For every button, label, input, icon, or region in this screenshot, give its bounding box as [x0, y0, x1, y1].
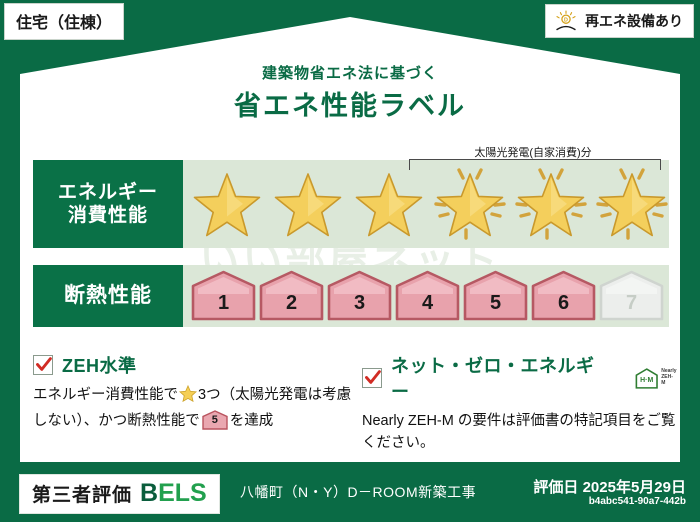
insulation-grade-active: 2: [258, 270, 325, 322]
zeh-checkbox[interactable]: [33, 355, 53, 375]
net-zero-title: ネット・ゼロ・エネルギー: [391, 352, 612, 404]
star-solar: [513, 164, 590, 244]
zeh-criterion-header: ZEH水準: [33, 352, 353, 378]
insulation-label-text: 断熱性能: [64, 283, 152, 309]
insulation-row-label: 断熱性能: [33, 265, 183, 327]
zeh-description: エネルギー消費性能で 3つ（太陽光発電は考慮しない）、かつ断熱性能で 5 を達成: [33, 385, 353, 433]
solar-bracket: [409, 159, 661, 170]
insulation-grade-active: 1: [190, 270, 257, 322]
insulation-grade-active: 3: [326, 270, 393, 322]
inline-grade-badge: 5: [202, 410, 228, 430]
bels-badge: 第三者評価 BELS: [19, 474, 220, 514]
insulation-grade-active: 5: [462, 270, 529, 322]
energy-performance-label: いい部屋ネット 住宅（住棟） D 再エネ設備あり 建築物省エネ法に基づく 省エネ…: [0, 0, 700, 522]
energy-stars-area: 太陽光発電(自家消費)分: [183, 160, 669, 248]
energy-label-line2: 消費性能: [68, 204, 148, 227]
insulation-performance-row: 断熱性能 1234567: [33, 265, 669, 327]
star-solar: [432, 164, 509, 244]
star-filled: [351, 164, 428, 244]
inline-grade-value: 5: [202, 412, 228, 429]
project-name: 八幡町（N・Y）D－ROOM新築工事: [240, 482, 476, 502]
zeh-m-caption: Nearly ZEH-M: [661, 369, 677, 386]
insulation-grade-value: 4: [394, 292, 461, 315]
insulation-grade-list: 1234567: [183, 270, 665, 322]
page-title: 省エネ性能ラベル: [0, 84, 700, 123]
star-filled: [189, 164, 266, 244]
net-zero-description: Nearly ZEH-M の要件は評価書の特記項目をご覧ください。: [362, 411, 677, 455]
sun-icon: D: [554, 10, 578, 32]
label-subtitle: 建築物省エネ法に基づく: [0, 62, 700, 83]
insulation-grade-value: 7: [598, 292, 665, 315]
net-zero-criterion-header: ネット・ゼロ・エネルギー H·M Nearly ZEH-M: [362, 352, 677, 404]
building-type-tab[interactable]: 住宅（住棟）: [4, 3, 124, 40]
zeh-text-a: エネルギー消費性能で: [33, 387, 178, 403]
evaluation-date: 評価日 2025年5月29日: [533, 476, 686, 497]
zeh-text-c: を達成: [230, 413, 274, 429]
check-icon: [35, 356, 53, 374]
svg-text:D: D: [564, 18, 568, 24]
renewable-badge-label: 再エネ設備あり: [585, 11, 683, 31]
insulation-grade-value: 1: [190, 292, 257, 315]
insulation-grade-active: 6: [530, 270, 597, 322]
inline-star-icon: [179, 385, 197, 410]
check-icon: [364, 369, 382, 387]
insulation-grade-value: 2: [258, 292, 325, 315]
insulation-grade-value: 6: [530, 292, 597, 315]
zeh-m-caption-line2: ZEH-M: [661, 375, 677, 387]
zeh-m-logo: H·M Nearly ZEH-M: [627, 366, 677, 391]
net-zero-criterion: ネット・ゼロ・エネルギー H·M Nearly ZEH-M Nearly ZEH…: [362, 352, 677, 455]
bels-letter-b: B: [140, 479, 158, 507]
net-zero-checkbox[interactable]: [362, 368, 382, 388]
zeh-title: ZEH水準: [62, 352, 137, 378]
evaluation-id: b4abc541-90a7-442b: [589, 496, 686, 507]
label-footer: 第三者評価 BELS 八幡町（N・Y）D－ROOM新築工事 評価日 2025年5…: [0, 466, 700, 522]
bels-label: 第三者評価: [32, 480, 132, 507]
energy-performance-row: エネルギー 消費性能 太陽光発電(自家消費)分: [33, 160, 669, 248]
insulation-grade-value: 5: [462, 292, 529, 315]
energy-label-line1: エネルギー: [58, 181, 158, 204]
star-rating: [189, 164, 671, 244]
star-filled: [270, 164, 347, 244]
renewable-equipment-badge[interactable]: D 再エネ設備あり: [545, 4, 694, 38]
insulation-grade-active: 4: [394, 270, 461, 322]
solar-note-label: 太陽光発電(自家消費)分: [409, 144, 657, 160]
star-solar: [594, 164, 671, 244]
insulation-grades-area: 1234567: [183, 265, 669, 327]
energy-row-label: エネルギー 消費性能: [33, 160, 183, 248]
bels-wordmark: BELS: [140, 479, 207, 508]
svg-text:H·M: H·M: [640, 377, 653, 384]
bels-letters-els: ELS: [158, 479, 207, 507]
insulation-grade-value: 3: [326, 292, 393, 315]
insulation-grade-inactive: 7: [598, 270, 665, 322]
zeh-criterion: ZEH水準 エネルギー消費性能で 3つ（太陽光発電は考慮しない）、かつ断熱性能で…: [33, 352, 353, 433]
zeh-m-house-icon: H·M: [627, 366, 659, 391]
